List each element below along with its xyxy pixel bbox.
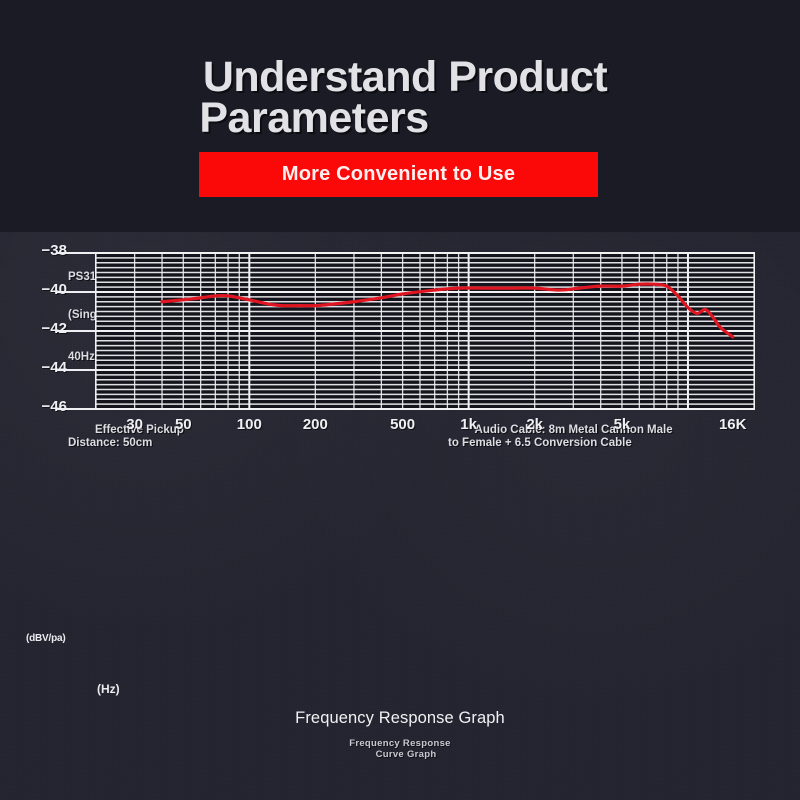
y-tick-mark [57, 330, 95, 332]
y-tick-label: −40 [7, 281, 67, 298]
y-tick-mark [57, 291, 95, 293]
y-tick-label: −42 [7, 320, 67, 337]
x-tick-label: 200 [275, 416, 355, 433]
frequency-response-plot [95, 252, 755, 410]
y-tick-label: −44 [7, 359, 67, 376]
page-title-line-2: Parameters [0, 99, 628, 139]
chart-caption: Frequency Response Curve Graph [0, 738, 800, 760]
y-tick-mark [57, 408, 95, 410]
x-tick-label: 5k [582, 416, 662, 433]
chart-caption-line-2: Curve Graph [0, 749, 800, 760]
y-tick-mark [57, 369, 95, 371]
x-tick-label: 2k [495, 416, 575, 433]
cta-banner[interactable]: More Convenient to Use [199, 152, 598, 197]
spec-value: to Female + 6.5 Conversion Cable [443, 437, 673, 451]
product-parameters-page: Understand Product Parameters More Conve… [0, 0, 800, 800]
page-title-line-1: Understand Product [10, 58, 800, 98]
x-axis-unit-label: (Hz) [97, 682, 120, 696]
chart-caption-line-1: Frequency Response [349, 738, 451, 749]
page-header: Understand Product Parameters More Conve… [0, 0, 800, 232]
y-tick-mark [57, 252, 95, 254]
y-tick-label: −38 [7, 242, 67, 259]
page-title: Understand Product Parameters [0, 58, 800, 138]
spec-value: Distance: 50cm [63, 437, 184, 451]
chart-title: Frequency Response Graph [0, 709, 800, 728]
y-tick-label: −46 [7, 398, 67, 415]
cta-banner-label: More Convenient to Use [282, 163, 515, 186]
y-axis-unit-label: (dBV/pa) [26, 633, 66, 644]
x-tick-label: 16K [693, 416, 773, 433]
frequency-response-curve [96, 253, 754, 409]
